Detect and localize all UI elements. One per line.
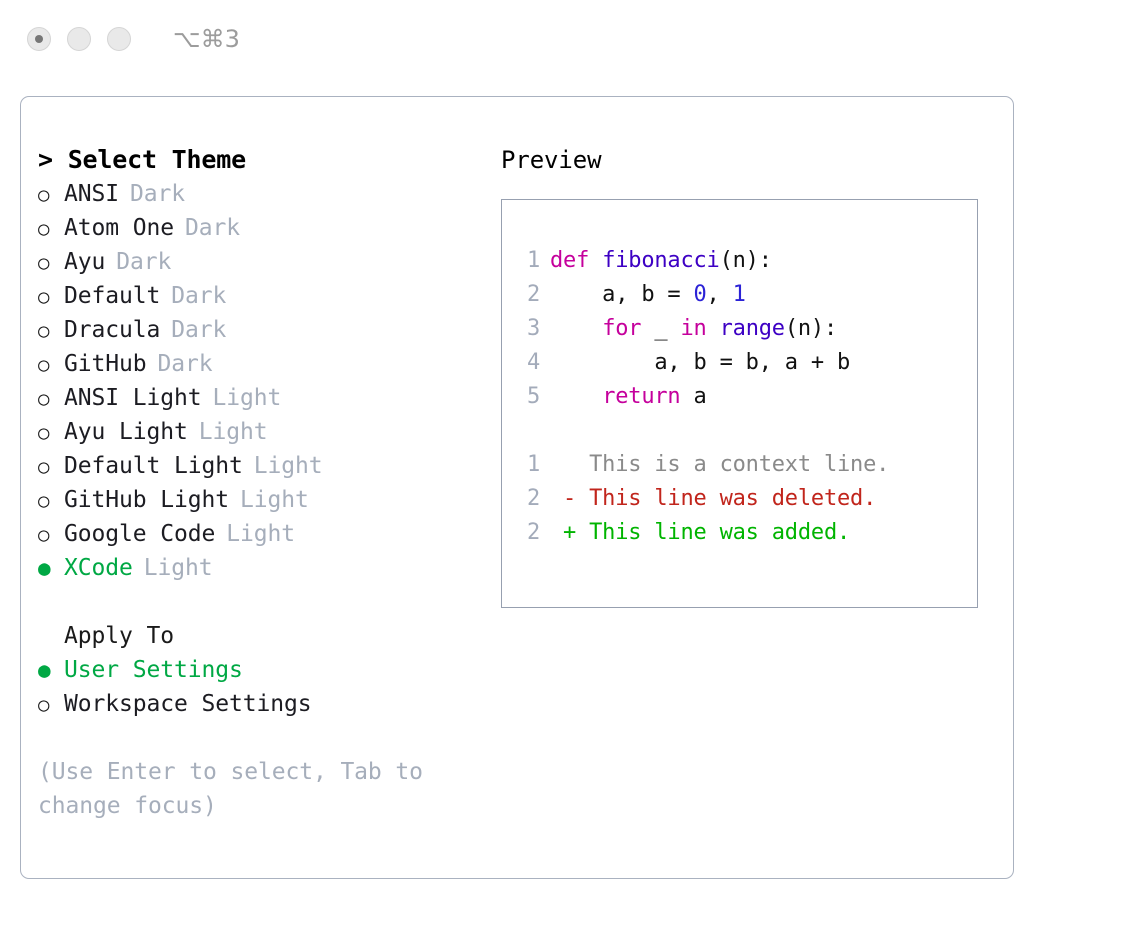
theme-option-kind: Dark bbox=[157, 347, 212, 381]
line-number: 2 bbox=[514, 516, 550, 550]
theme-option-kind: Light bbox=[212, 381, 281, 415]
radio-unselected-icon: ○ bbox=[38, 178, 64, 212]
theme-option-github[interactable]: ○GitHubDark bbox=[38, 347, 478, 381]
preview-column: Preview 1def fibonacci(n):2 a, b = 0, 13… bbox=[501, 143, 1001, 608]
code-line: 3 for _ in range(n): bbox=[514, 312, 977, 346]
theme-selection-column: > Select Theme ○ANSIDark○Atom OneDark○Ay… bbox=[38, 143, 478, 823]
theme-option-label: XCode bbox=[64, 551, 133, 585]
code-token: 1 bbox=[733, 282, 746, 307]
radio-unselected-icon: ○ bbox=[38, 688, 64, 722]
theme-option-label: Default Light bbox=[64, 449, 243, 483]
apply-to-option-label: Workspace Settings bbox=[64, 687, 311, 721]
code-token: (n): bbox=[720, 248, 772, 273]
apply-to-header: Apply To bbox=[38, 619, 478, 653]
preview-box: 1def fibonacci(n):2 a, b = 0, 13 for _ i… bbox=[501, 199, 978, 608]
theme-option-ayu[interactable]: ○AyuDark bbox=[38, 245, 478, 279]
code-token bbox=[550, 316, 602, 341]
line-number: 1 bbox=[514, 448, 550, 482]
theme-option-xcode[interactable]: ●XCodeLight bbox=[38, 551, 478, 585]
code-line-text: a, b = b, a + b bbox=[550, 346, 850, 380]
theme-option-kind: Light bbox=[144, 551, 213, 585]
diff-line-text: + This line was added. bbox=[550, 516, 850, 550]
theme-option-label: Atom One bbox=[64, 211, 174, 245]
code-token: 0 bbox=[694, 282, 707, 307]
theme-option-label: GitHub Light bbox=[64, 483, 229, 517]
theme-option-label: Ayu bbox=[64, 245, 105, 279]
radio-selected-icon: ● bbox=[38, 551, 64, 585]
theme-option-kind: Dark bbox=[185, 211, 240, 245]
theme-option-label: ANSI bbox=[64, 177, 119, 211]
diff-line: 2 + This line was added. bbox=[514, 516, 977, 550]
code-line-text: def fibonacci(n): bbox=[550, 244, 772, 278]
theme-option-kind: Light bbox=[240, 483, 309, 517]
radio-selected-icon: ● bbox=[38, 653, 64, 687]
radio-unselected-icon: ○ bbox=[38, 212, 64, 246]
code-token: fibonacci bbox=[602, 248, 719, 273]
window-dot-active-fill bbox=[35, 35, 43, 43]
line-number: 3 bbox=[514, 312, 550, 346]
theme-option-google-code[interactable]: ○Google CodeLight bbox=[38, 517, 478, 551]
theme-option-kind: Dark bbox=[130, 177, 185, 211]
code-token: a, b = b, a + b bbox=[550, 350, 850, 375]
theme-option-atom-one[interactable]: ○Atom OneDark bbox=[38, 211, 478, 245]
apply-to-list: ●User Settings○Workspace Settings bbox=[38, 653, 478, 721]
diff-line-text: This is a context line. bbox=[550, 448, 889, 482]
apply-to-option-user-settings[interactable]: ●User Settings bbox=[38, 653, 478, 687]
theme-option-kind: Dark bbox=[116, 245, 171, 279]
theme-option-github-light[interactable]: ○GitHub LightLight bbox=[38, 483, 478, 517]
line-number: 2 bbox=[514, 482, 550, 516]
code-token: _ bbox=[641, 316, 680, 341]
window-dot-second[interactable] bbox=[67, 27, 91, 51]
theme-option-label: Default bbox=[64, 279, 160, 313]
line-number: 1 bbox=[514, 244, 550, 278]
theme-option-label: GitHub bbox=[64, 347, 146, 381]
theme-option-ansi-light[interactable]: ○ANSI LightLight bbox=[38, 381, 478, 415]
code-line-text: a, b = 0, 1 bbox=[550, 278, 746, 312]
preview-title: Preview bbox=[501, 143, 1001, 177]
diff-line: 1 This is a context line. bbox=[514, 448, 977, 482]
radio-unselected-icon: ○ bbox=[38, 518, 64, 552]
code-token: return bbox=[602, 384, 680, 409]
select-theme-header: > Select Theme bbox=[38, 143, 478, 177]
code-line: 4 a, b = b, a + b bbox=[514, 346, 977, 380]
line-number: 5 bbox=[514, 380, 550, 414]
code-spacer bbox=[514, 414, 977, 448]
window-controls bbox=[27, 27, 147, 51]
theme-option-default[interactable]: ○DefaultDark bbox=[38, 279, 478, 313]
theme-option-ansi[interactable]: ○ANSIDark bbox=[38, 177, 478, 211]
radio-unselected-icon: ○ bbox=[38, 484, 64, 518]
theme-option-kind: Dark bbox=[171, 279, 226, 313]
theme-option-kind: Light bbox=[226, 517, 295, 551]
theme-option-default-light[interactable]: ○Default LightLight bbox=[38, 449, 478, 483]
theme-option-kind: Light bbox=[254, 449, 323, 483]
code-line: 1def fibonacci(n): bbox=[514, 244, 977, 278]
line-number: 4 bbox=[514, 346, 550, 380]
code-token: , bbox=[707, 282, 733, 307]
keyboard-hint-text: (Use Enter to select, Tab to change focu… bbox=[38, 755, 438, 823]
code-line: 2 a, b = 0, 1 bbox=[514, 278, 977, 312]
radio-unselected-icon: ○ bbox=[38, 280, 64, 314]
window-dot-active[interactable] bbox=[27, 27, 51, 51]
code-token: range bbox=[720, 316, 785, 341]
theme-option-label: Ayu Light bbox=[64, 415, 188, 449]
theme-option-label: ANSI Light bbox=[64, 381, 201, 415]
code-line: 5 return a bbox=[514, 380, 977, 414]
window-dot-third[interactable] bbox=[107, 27, 131, 51]
code-token bbox=[707, 316, 720, 341]
radio-unselected-icon: ○ bbox=[38, 416, 64, 450]
code-sample: 1def fibonacci(n):2 a, b = 0, 13 for _ i… bbox=[514, 244, 977, 414]
theme-picker-window: ⌥⌘3 > Select Theme ○ANSIDark○Atom OneDar… bbox=[0, 0, 1140, 934]
theme-list: ○ANSIDark○Atom OneDark○AyuDark○DefaultDa… bbox=[38, 177, 478, 585]
keyboard-shortcut-label: ⌥⌘3 bbox=[173, 25, 240, 53]
apply-to-option-workspace-settings[interactable]: ○Workspace Settings bbox=[38, 687, 478, 721]
line-number: 2 bbox=[514, 278, 550, 312]
radio-unselected-icon: ○ bbox=[38, 314, 64, 348]
theme-option-ayu-light[interactable]: ○Ayu LightLight bbox=[38, 415, 478, 449]
radio-unselected-icon: ○ bbox=[38, 246, 64, 280]
code-token: (n): bbox=[785, 316, 837, 341]
code-line-text: for _ in range(n): bbox=[550, 312, 837, 346]
radio-unselected-icon: ○ bbox=[38, 382, 64, 416]
apply-to-section: Apply To ●User Settings○Workspace Settin… bbox=[38, 619, 478, 721]
theme-option-label: Google Code bbox=[64, 517, 215, 551]
radio-unselected-icon: ○ bbox=[38, 450, 64, 484]
theme-option-dracula[interactable]: ○DraculaDark bbox=[38, 313, 478, 347]
theme-option-kind: Light bbox=[199, 415, 268, 449]
radio-unselected-icon: ○ bbox=[38, 348, 64, 382]
theme-option-kind: Dark bbox=[171, 313, 226, 347]
code-token: a bbox=[680, 384, 706, 409]
window-titlebar: ⌥⌘3 bbox=[0, 0, 1140, 78]
theme-option-label: Dracula bbox=[64, 313, 160, 347]
code-token: a, b = bbox=[550, 282, 694, 307]
diff-line: 2 - This line was deleted. bbox=[514, 482, 977, 516]
code-token: in bbox=[680, 316, 706, 341]
main-panel: > Select Theme ○ANSIDark○Atom OneDark○Ay… bbox=[20, 96, 1014, 879]
code-line-text: return a bbox=[550, 380, 707, 414]
code-token: for bbox=[602, 316, 641, 341]
code-token: def bbox=[550, 248, 602, 273]
code-token bbox=[550, 384, 602, 409]
apply-to-option-label: User Settings bbox=[64, 653, 243, 687]
diff-sample: 1 This is a context line.2 - This line w… bbox=[514, 448, 977, 550]
diff-line-text: - This line was deleted. bbox=[550, 482, 876, 516]
